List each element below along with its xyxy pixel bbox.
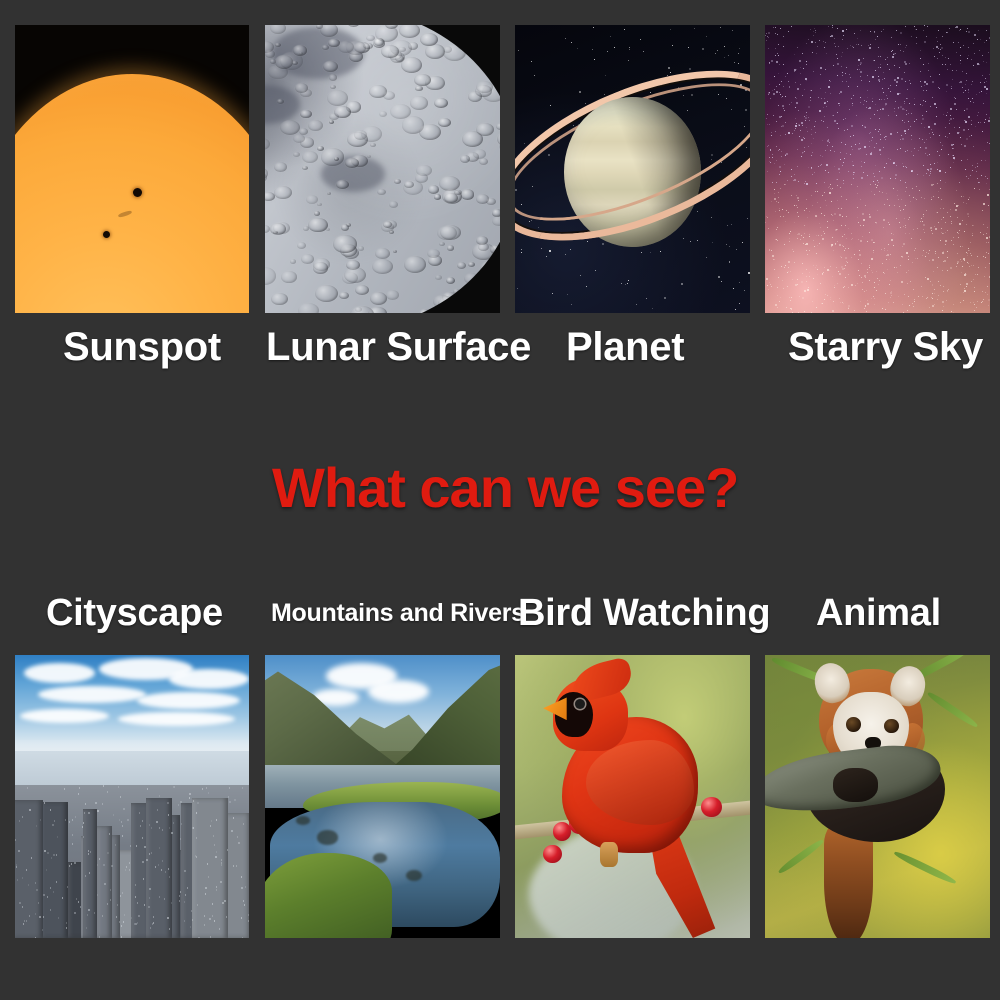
tile-sunspot[interactable]: [15, 25, 249, 313]
mountain-icon: [265, 655, 500, 938]
tile-starry-sky[interactable]: [765, 25, 990, 313]
moon-icon: [265, 25, 500, 313]
tile-label-mountains-and-rivers: Mountains and Rivers: [271, 599, 525, 628]
animal-icon: [765, 655, 990, 938]
tile-label-bird-watching: Bird Watching: [518, 592, 770, 635]
tile-label-animal: Animal: [816, 592, 941, 635]
tile-animal[interactable]: [765, 655, 990, 938]
city-icon: [15, 655, 249, 938]
stars-icon: [765, 25, 990, 313]
tile-bird-watching[interactable]: [515, 655, 750, 938]
tile-planet[interactable]: [515, 25, 750, 313]
planet-icon: [515, 25, 750, 313]
tile-label-sunspot: Sunspot: [63, 325, 221, 370]
tile-lunar-surface[interactable]: [265, 25, 500, 313]
poster-board: Sunspot Lunar Surface Planet Starry Sky …: [0, 0, 1000, 1000]
tile-label-lunar-surface: Lunar Surface: [266, 325, 531, 370]
tile-cityscape[interactable]: [15, 655, 249, 938]
sun-icon: [15, 25, 249, 313]
tile-label-starry-sky: Starry Sky: [788, 325, 983, 370]
tile-label-cityscape: Cityscape: [46, 592, 223, 635]
tile-mountains-and-rivers[interactable]: [265, 655, 500, 938]
tile-label-planet: Planet: [566, 325, 684, 370]
page-title: What can we see?: [272, 455, 738, 520]
bird-icon: [515, 655, 750, 938]
